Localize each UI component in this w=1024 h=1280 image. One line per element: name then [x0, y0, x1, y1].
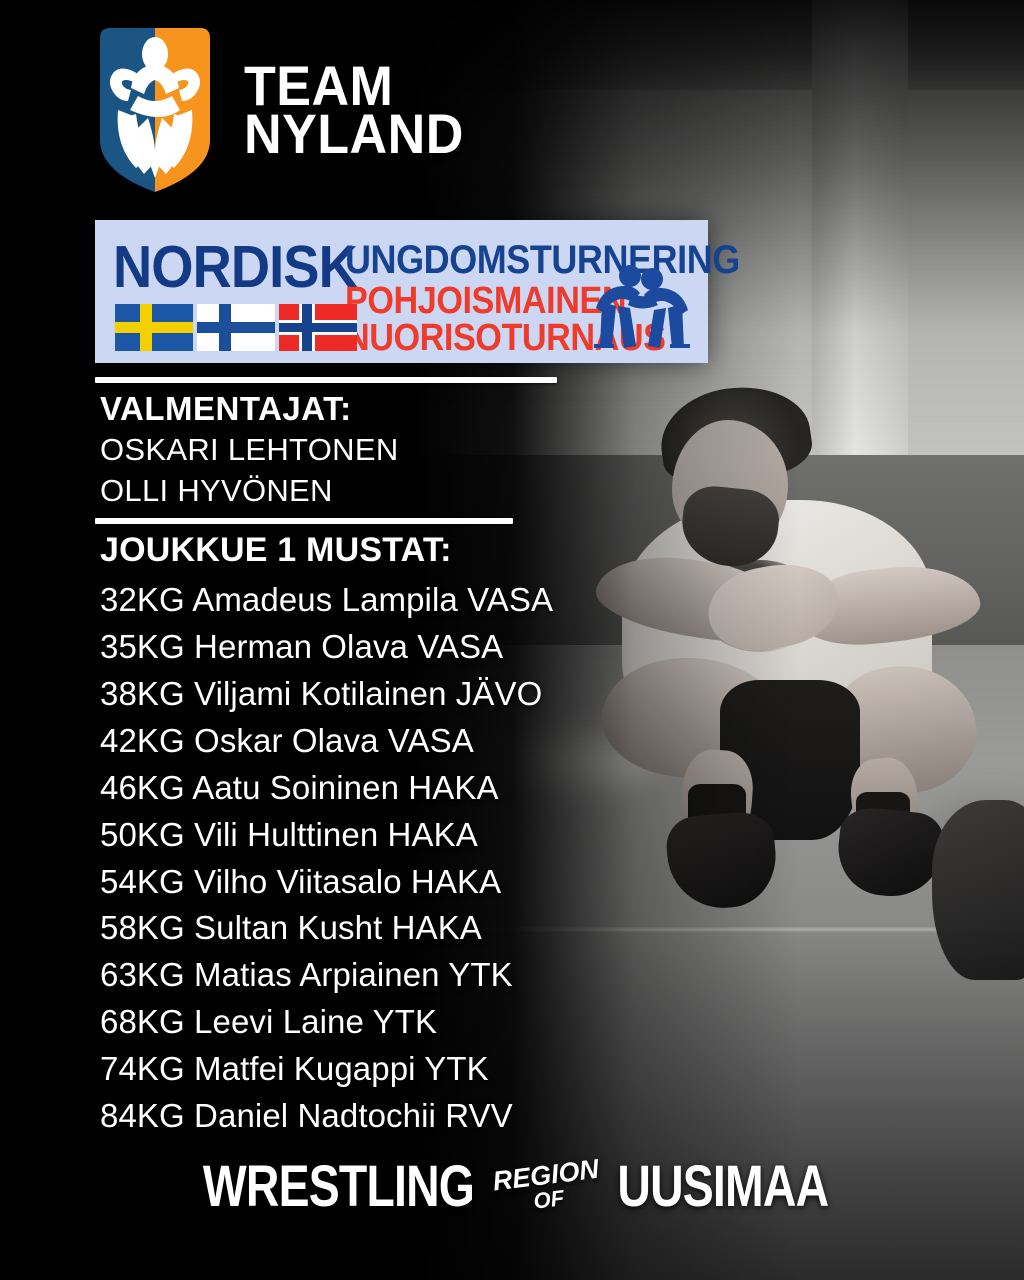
- roster-item: 68KG Leevi Laine YTK: [100, 999, 553, 1046]
- coaches-heading: VALMENTAJAT:: [100, 388, 399, 429]
- roster-item: 32KG Amadeus Lampila VASA: [100, 577, 553, 624]
- footer-of-word: OF: [533, 1188, 566, 1212]
- roster-item: 54KG Vilho Viitasalo HAKA: [100, 859, 553, 906]
- roster-section: JOUKKUE 1 MUSTAT: 32KG Amadeus Lampila V…: [100, 530, 553, 1140]
- roster-item: 63KG Matias Arpiainen YTK: [100, 952, 553, 999]
- tournament-banner: NORDISK UNGDOMSTURNERING POHJOISMAINEN N…: [95, 220, 708, 363]
- roster-item: 46KG Aatu Soininen HAKA: [100, 765, 553, 812]
- poster-content: TEAM NYLAND NORDISK UNGDOMSTURNERING POH…: [0, 0, 1024, 1280]
- footer-uusimaa-word: UUSIMAA: [617, 1158, 828, 1216]
- coaches-section: VALMENTAJAT: OSKARI LEHTONEN OLLI HYVÖNE…: [100, 388, 399, 512]
- roster-list: 32KG Amadeus Lampila VASA 35KG Herman Ol…: [100, 577, 553, 1139]
- team-name-wordmark: TEAM NYLAND: [244, 62, 464, 156]
- roster-item: 35KG Herman Olava VASA: [100, 624, 553, 671]
- banner-nordisk-title: NORDISK: [113, 238, 357, 297]
- roster-item: 38KG Viljami Kotilainen JÄVO: [100, 671, 553, 718]
- coach-name: OSKARI LEHTONEN: [100, 429, 399, 470]
- roster-item: 58KG Sultan Kusht HAKA: [100, 905, 553, 952]
- roster-item: 74KG Matfei Kugappi YTK: [100, 1046, 553, 1093]
- roster-item: 42KG Oskar Olava VASA: [100, 718, 553, 765]
- poster: TEAM NYLAND NORDISK UNGDOMSTURNERING POH…: [0, 0, 1024, 1280]
- nordic-flags: [115, 304, 357, 351]
- team-nyland-logo: TEAM NYLAND: [88, 22, 480, 197]
- coach-name: OLLI HYVÖNEN: [100, 470, 399, 511]
- team-nyland-shield-icon: [88, 22, 222, 197]
- footer-wrestling-word: WRESTLING: [203, 1158, 474, 1216]
- team-name-line2: NYLAND: [244, 110, 464, 157]
- sweden-flag-icon: [115, 304, 193, 351]
- roster-item: 50KG Vili Hulttinen HAKA: [100, 812, 553, 859]
- divider-top: [95, 377, 557, 383]
- roster-item: 84KG Daniel Nadtochii RVV: [100, 1093, 553, 1140]
- wrestlers-pictogram-icon: [588, 262, 696, 348]
- banner-finnish-line1: POHJOISMAINEN: [345, 282, 626, 320]
- wrestling-uusimaa-logo: WRESTLING REGION OF UUSIMAA: [0, 1158, 1024, 1216]
- divider-middle: [95, 518, 513, 524]
- finland-flag-icon: [197, 304, 275, 351]
- norway-flag-icon: [279, 304, 357, 351]
- footer-region-of: REGION OF: [492, 1157, 604, 1217]
- roster-heading: JOUKKUE 1 MUSTAT:: [100, 530, 553, 571]
